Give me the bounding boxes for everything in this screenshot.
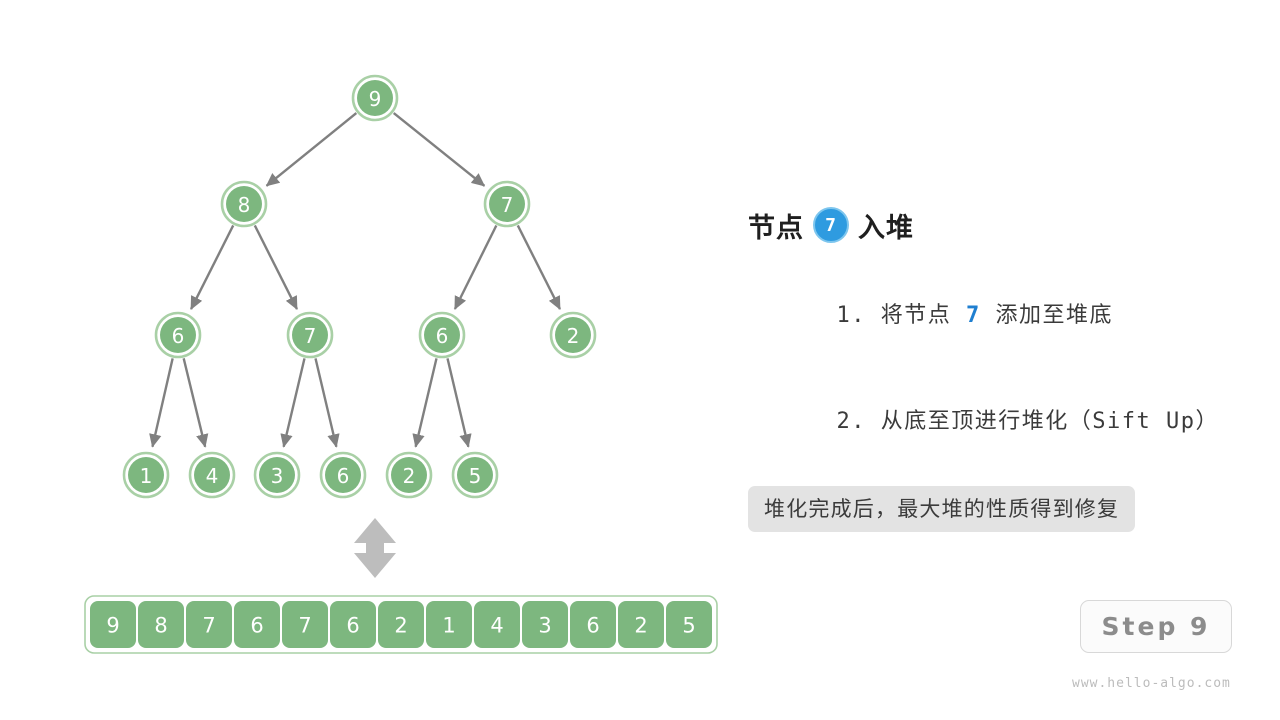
array-cell-value: 3 — [538, 614, 551, 638]
tree-edge — [448, 358, 469, 446]
array-cell-value: 6 — [250, 614, 263, 638]
step-2-before: 从底至顶进行堆化（Sift Up） — [866, 409, 1219, 434]
tree-edge — [284, 358, 305, 446]
array-cell-value: 7 — [202, 614, 215, 638]
tree-node: 9 — [353, 76, 397, 120]
tree-node: 6 — [156, 313, 200, 357]
step-item-1: 1. 将节点 7 添加至堆底 — [748, 272, 1248, 354]
array-cell: 7 — [282, 601, 328, 648]
title-prefix: 节点 — [748, 206, 804, 245]
step-item-2: 2. 从底至顶进行堆化（Sift Up） — [748, 378, 1248, 460]
array-cell-value: 1 — [442, 614, 455, 638]
array-cell: 4 — [474, 601, 520, 648]
node-value: 7 — [304, 324, 317, 348]
array-cell-value: 9 — [106, 614, 119, 638]
tree-edge — [316, 358, 337, 446]
step-list: 1. 将节点 7 添加至堆底 2. 从底至顶进行堆化（Sift Up） — [748, 272, 1248, 460]
tree-edge — [518, 225, 560, 309]
tree-node: 7 — [288, 313, 332, 357]
array-cell-value: 4 — [490, 614, 503, 638]
tree-edge — [416, 358, 437, 446]
tree-edges-group — [152, 113, 559, 447]
array-cell-value: 7 — [298, 614, 311, 638]
node-value: 7 — [501, 193, 514, 217]
tree-edge — [255, 225, 297, 309]
node-value: 9 — [369, 87, 382, 111]
array-cell-value: 5 — [682, 614, 695, 638]
array-cell-value: 6 — [346, 614, 359, 638]
array-cell: 2 — [618, 601, 664, 648]
node-value: 4 — [206, 464, 219, 488]
array-cell: 6 — [234, 601, 280, 648]
step-1-after: 添加至堆底 — [981, 303, 1113, 328]
node-value: 3 — [271, 464, 284, 488]
tree-node: 6 — [321, 453, 365, 497]
tree-edge — [267, 113, 357, 186]
tree-edge — [455, 225, 496, 309]
array-cell: 1 — [426, 601, 472, 648]
tree-array-connector-icon — [354, 518, 396, 578]
step-1-highlight-value: 7 — [966, 303, 981, 328]
step-badge: Step 9 — [1080, 600, 1232, 653]
tree-node: 2 — [387, 453, 431, 497]
title-node-badge: 7 — [813, 207, 849, 243]
tree-nodes-group: 9876762143625 — [124, 76, 595, 497]
page-title: 节点 7 入堆 — [748, 200, 1248, 250]
tree-node: 2 — [551, 313, 595, 357]
array-cell: 6 — [330, 601, 376, 648]
title-suffix: 入堆 — [858, 206, 914, 245]
array-cell: 2 — [378, 601, 424, 648]
array-cell-value: 6 — [586, 614, 599, 638]
node-value: 6 — [172, 324, 185, 348]
node-value: 6 — [337, 464, 350, 488]
step-2-index: 2. — [836, 409, 866, 434]
array-cell: 3 — [522, 601, 568, 648]
tree-node: 5 — [453, 453, 497, 497]
array-cell: 9 — [90, 601, 136, 648]
array-cell: 6 — [570, 601, 616, 648]
tree-node: 6 — [420, 313, 464, 357]
array-cell: 7 — [186, 601, 232, 648]
tree-edge — [191, 225, 233, 309]
tree-node: 4 — [190, 453, 234, 497]
array-cell-value: 2 — [394, 614, 407, 638]
tree-node: 7 — [485, 182, 529, 226]
step-1-before: 将节点 — [866, 303, 966, 328]
node-value: 6 — [436, 324, 449, 348]
array-cell-value: 8 — [154, 614, 167, 638]
node-value: 2 — [403, 464, 416, 488]
node-value: 5 — [469, 464, 482, 488]
result-note: 堆化完成后，最大堆的性质得到修复 — [748, 486, 1135, 532]
array-cell-value: 2 — [634, 614, 647, 638]
tree-edge — [152, 358, 172, 446]
watermark: www.hello-algo.com — [1072, 676, 1231, 691]
node-value: 1 — [140, 464, 153, 488]
tree-node: 1 — [124, 453, 168, 497]
step-1-index: 1. — [836, 303, 866, 328]
array-representation: 9876762143625 — [85, 596, 717, 653]
tree-node: 8 — [222, 182, 266, 226]
tree-edge — [184, 358, 205, 446]
array-cell: 8 — [138, 601, 184, 648]
explanation-panel: 节点 7 入堆 1. 将节点 7 添加至堆底 2. 从底至顶进行堆化（Sift … — [748, 200, 1248, 532]
array-cell: 5 — [666, 601, 712, 648]
node-value: 2 — [567, 324, 580, 348]
node-value: 8 — [238, 193, 251, 217]
tree-edge — [394, 113, 485, 186]
tree-node: 3 — [255, 453, 299, 497]
